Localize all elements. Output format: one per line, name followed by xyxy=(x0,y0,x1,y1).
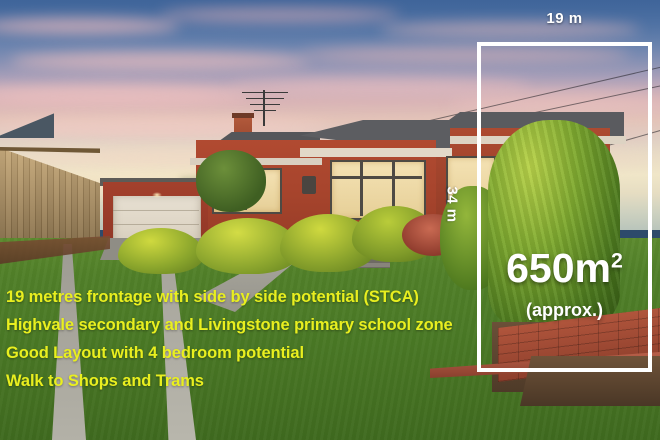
bay-window-transom xyxy=(330,176,422,179)
plot-area-value: 650m2 xyxy=(477,248,652,289)
feature-bullet: Good Layout with 4 bedroom potential xyxy=(6,339,476,367)
chimney-cap xyxy=(232,113,254,118)
plot-area-exponent: 2 xyxy=(611,248,623,272)
listing-image: 19 m 34 m 650m2 (approx.) 19 metres fron… xyxy=(0,0,660,440)
plot-area-approx-label: (approx.) xyxy=(477,300,652,321)
plot-width-label: 19 m xyxy=(477,10,652,27)
feature-bullet: 19 metres frontage with side by side pot… xyxy=(6,283,476,311)
plot-depth-label: 34 m xyxy=(444,175,461,235)
feature-bullet-list: 19 metres frontage with side by side pot… xyxy=(6,283,476,395)
bay-window-mullion-a xyxy=(360,160,363,216)
porch-light xyxy=(302,176,316,194)
tv-antenna xyxy=(0,0,330,140)
plot-outline-rectangle xyxy=(477,42,652,372)
plot-area-number: 650m xyxy=(506,245,611,291)
hedge-shrub-1 xyxy=(118,228,204,274)
house-eave-right xyxy=(300,148,452,157)
garage-light xyxy=(152,192,162,198)
feature-bullet: Highvale secondary and Livingstone prima… xyxy=(6,311,476,339)
feature-bullet: Walk to Shops and Trams xyxy=(6,367,476,395)
climbing-shrub xyxy=(196,150,266,212)
